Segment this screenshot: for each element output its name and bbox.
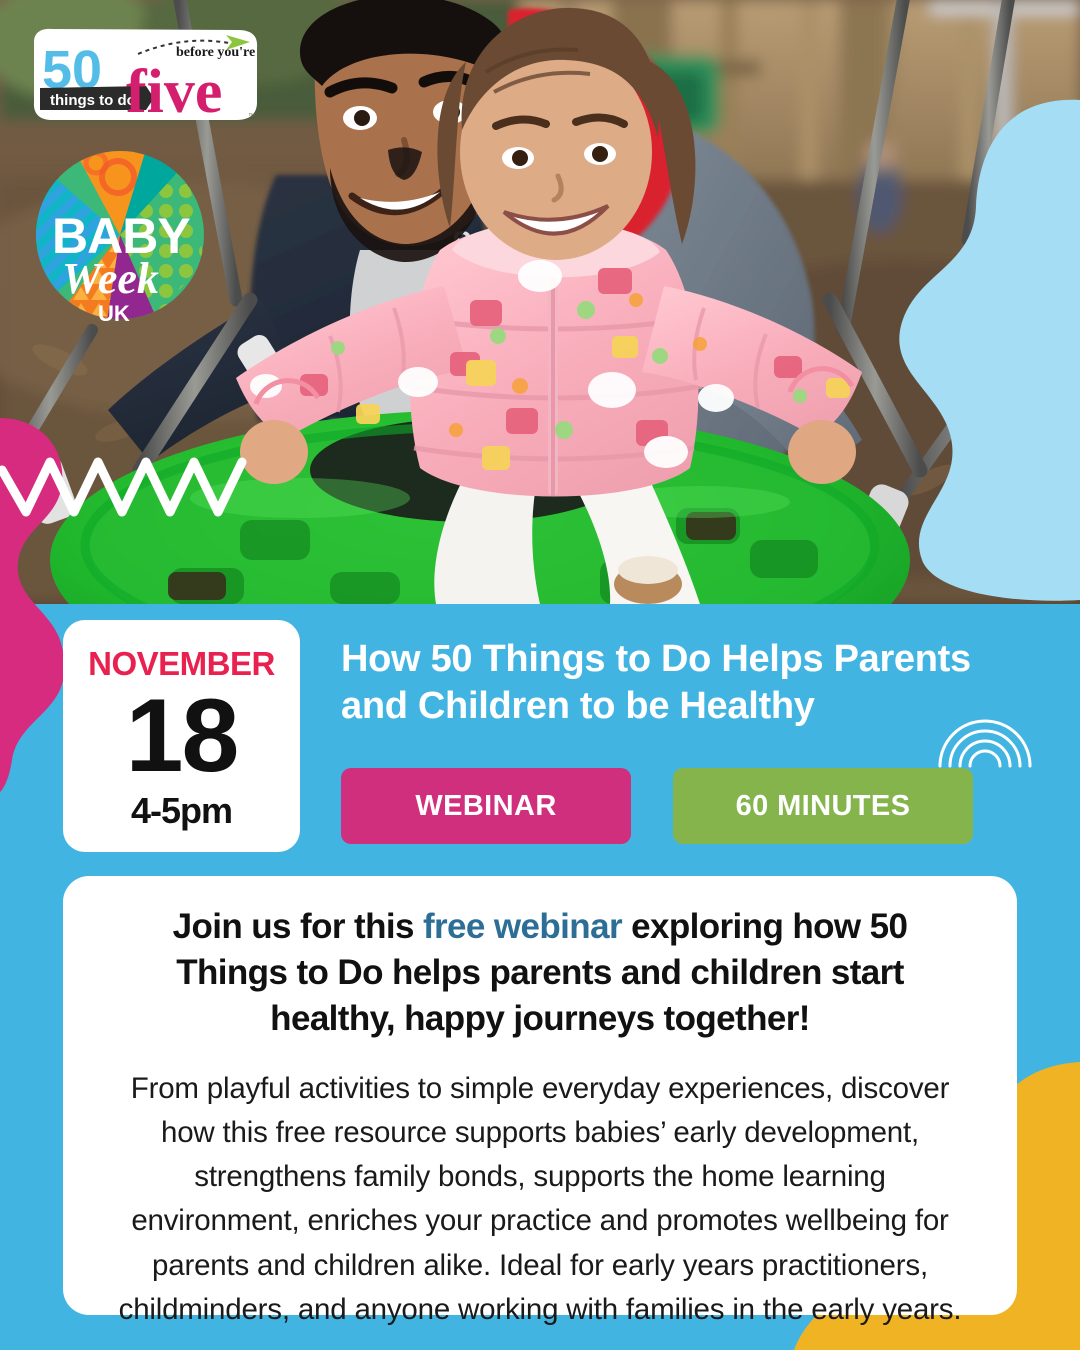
- baby-week-line2: Week: [62, 254, 159, 303]
- lede-highlight: free webinar: [423, 907, 622, 946]
- event-month: NOVEMBER: [88, 647, 275, 680]
- baby-week-line3: UK: [98, 301, 130, 326]
- logo-kicker-text: before you're: [176, 45, 255, 60]
- content-panel: NOVEMBER 18 4-5pm How 50 Things to Do He…: [0, 604, 1080, 1350]
- event-badges: WEBINAR 60 MINUTES: [341, 768, 973, 844]
- fifty-things-logo: 50 things to do five before you're ™: [28, 26, 260, 124]
- body-paragraph: From playful activities to simple everyd…: [109, 1067, 971, 1333]
- event-title: How 50 Things to Do Helps Parents and Ch…: [341, 636, 1021, 730]
- logo-word-five: five: [126, 58, 222, 124]
- description-card: Join us for this free webinar exploring …: [63, 876, 1017, 1315]
- lede-paragraph: Join us for this free webinar exploring …: [109, 904, 971, 1043]
- event-day: 18: [126, 682, 238, 791]
- badge-webinar: WEBINAR: [341, 768, 631, 844]
- logo-ribbon-text: things to do: [50, 92, 136, 109]
- poster-root: Su: [0, 0, 1080, 1350]
- baby-week-uk-logo: BABY Week UK: [36, 141, 204, 329]
- event-time: 4-5pm: [131, 793, 232, 829]
- logo-trademark: ™: [248, 113, 255, 120]
- rainbow-arcs-icon: [936, 706, 1034, 768]
- badge-duration: 60 MINUTES: [673, 768, 973, 844]
- event-date-card: NOVEMBER 18 4-5pm: [63, 620, 300, 852]
- lede-before: Join us for this: [173, 907, 423, 946]
